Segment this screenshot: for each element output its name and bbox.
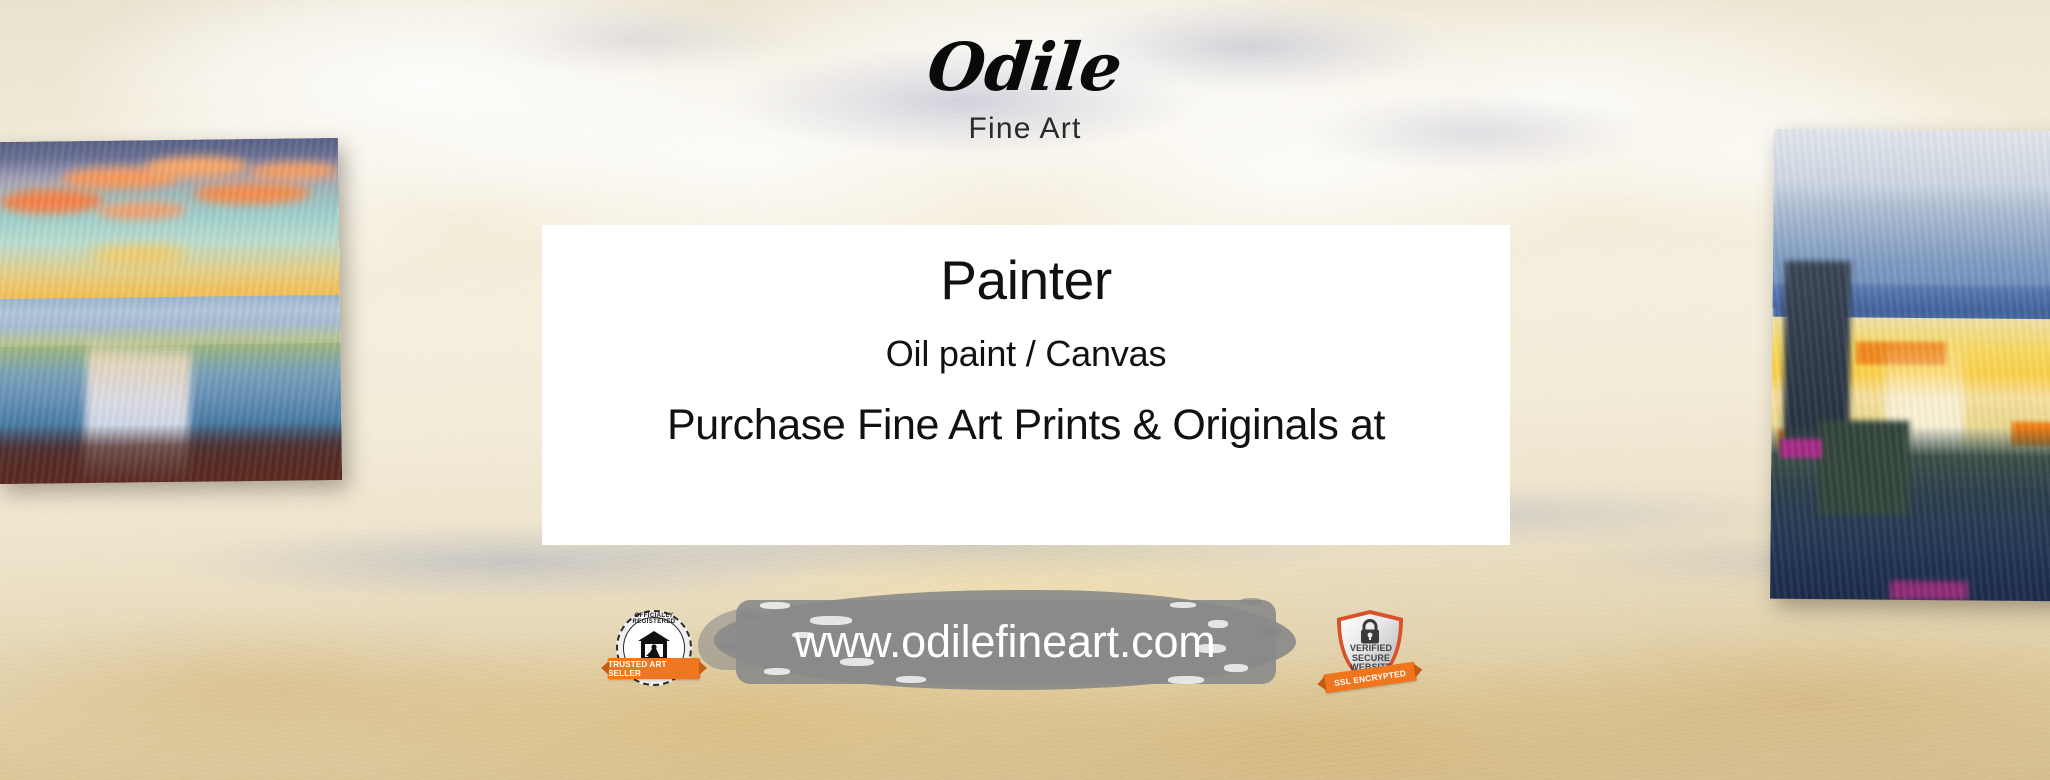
artwork-left-canvas [0, 138, 342, 484]
artwork-right-brushwork [1770, 129, 2050, 602]
verified-secure-website-badge[interactable]: VERIFIED SECURE WEBSITE SSL ENCRYPTED [1322, 608, 1418, 700]
artwork-right[interactable] [1770, 129, 2050, 602]
brand-tagline: Fine Art [0, 112, 2050, 146]
seller-ribbon-label: TRUSTED ART SELLER [608, 658, 700, 679]
medium-subtitle: Oil paint / Canvas [886, 333, 1167, 375]
artwork-left[interactable] [0, 138, 342, 484]
info-card: Painter Oil paint / Canvas Purchase Fine… [542, 225, 1510, 545]
fine-art-banner: Odile Fine Art Painter Oil paint / Canva… [0, 0, 2050, 780]
padlock-icon [1359, 619, 1381, 645]
url-brushstroke: www.odilefineart.com [700, 572, 1310, 712]
purchase-call-to-action: Purchase Fine Art Prints & Originals at [667, 401, 1385, 450]
artwork-right-canvas [1770, 129, 2050, 602]
brand-name: Odile [925, 34, 1125, 100]
trusted-art-seller-badge[interactable]: OFFICIALLY REGISTERED TRUSTED ART SELLER [608, 608, 700, 696]
page-title: Painter [940, 250, 1111, 311]
artwork-left-brushwork [0, 138, 342, 484]
brand-logo: Odile Fine Art [0, 34, 2050, 146]
art-gallery-icon [636, 630, 672, 660]
website-url[interactable]: www.odilefineart.com [700, 572, 1310, 712]
